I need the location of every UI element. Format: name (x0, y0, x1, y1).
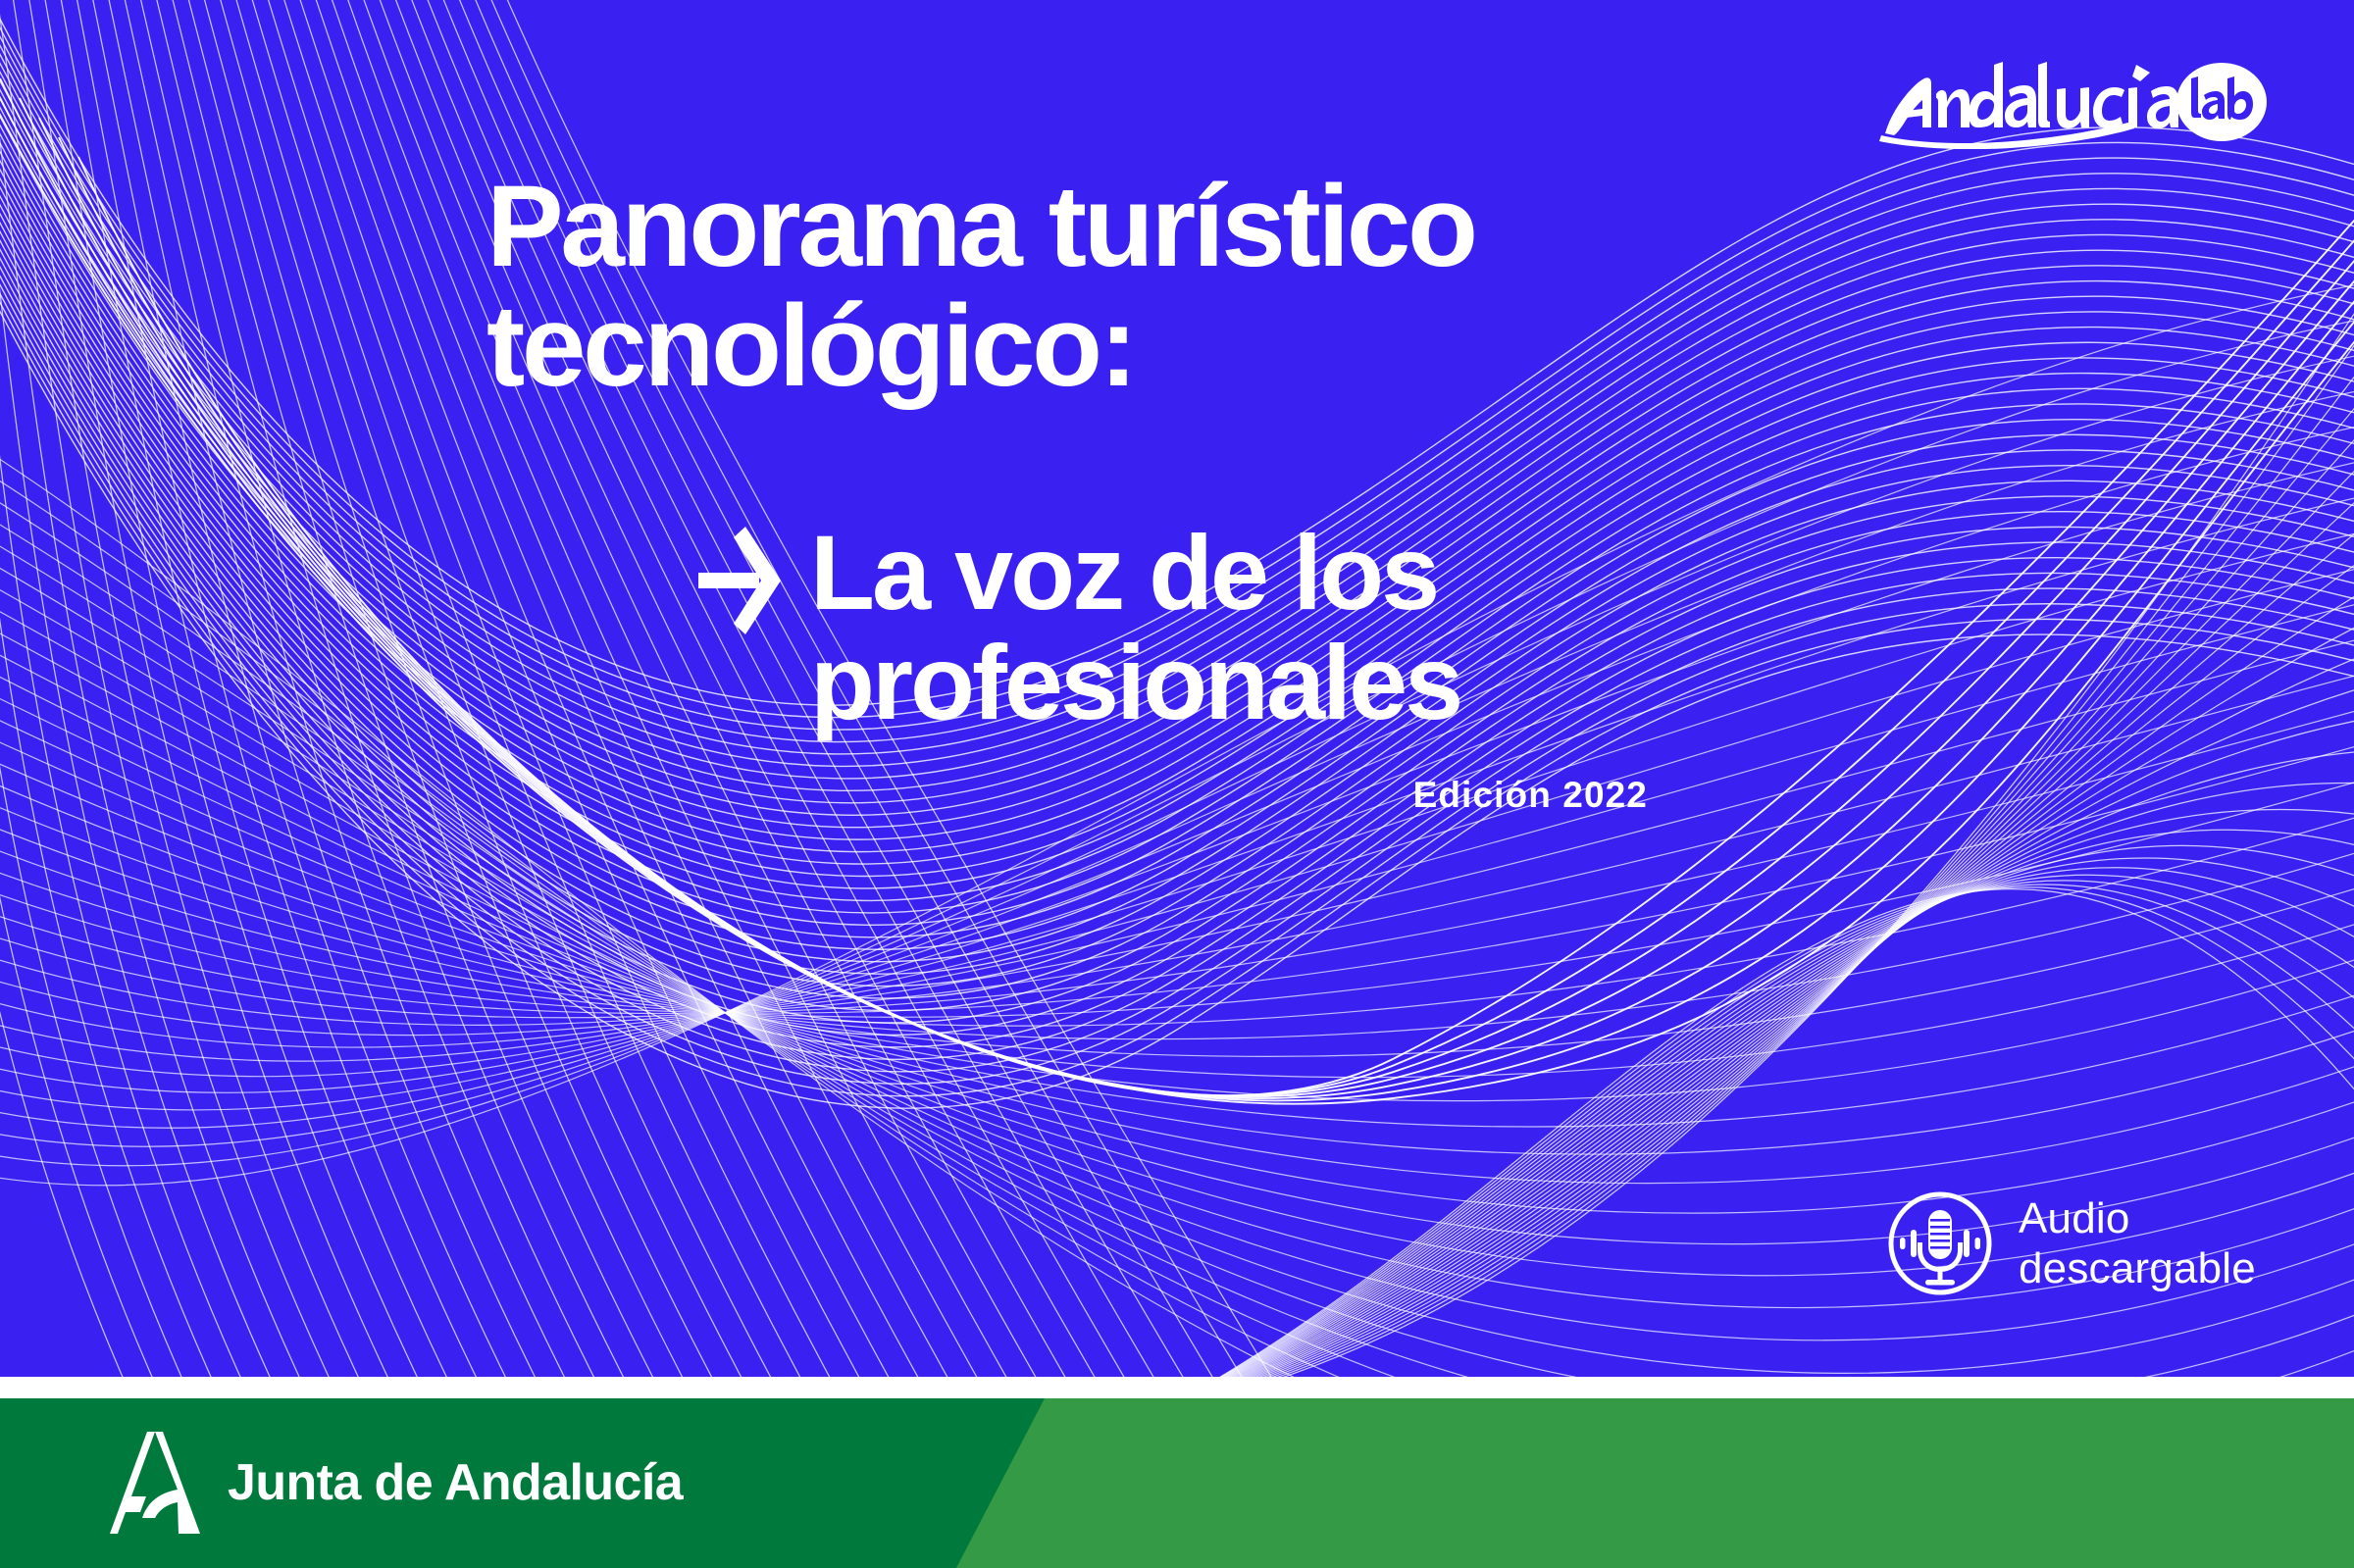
hero-section: Panorama turístico tecnológico: La voz d… (0, 0, 2354, 1377)
edition-label: Edición 2022 (698, 775, 1648, 816)
footer-bar: Junta de Andalucía (0, 1398, 2354, 1568)
andalucia-lab-logo[interactable] (1875, 51, 2268, 149)
title-block: Panorama turístico tecnológico: (486, 167, 1860, 406)
footer-separator (0, 1377, 2354, 1398)
page-subtitle: La voz de los profesionales (810, 518, 1460, 738)
subtitle-row: La voz de los profesionales (698, 518, 1875, 738)
page-title: Panorama turístico tecnológico: (486, 167, 1860, 406)
audio-download-label: Audio descargable (2019, 1193, 2256, 1294)
slide-canvas: Panorama turístico tecnológico: La voz d… (0, 0, 2354, 1568)
junta-de-andalucia-a-icon (110, 1432, 200, 1534)
microphone-icon (1885, 1189, 1995, 1298)
junta-brand-lockup[interactable]: Junta de Andalucía (110, 1432, 683, 1534)
junta-organization-label: Junta de Andalucía (228, 1453, 683, 1512)
subtitle-block: La voz de los profesionales Edición 2022 (698, 518, 1875, 738)
audio-download-badge[interactable]: Audio descargable (1885, 1189, 2256, 1298)
arrow-right-icon (698, 524, 781, 637)
